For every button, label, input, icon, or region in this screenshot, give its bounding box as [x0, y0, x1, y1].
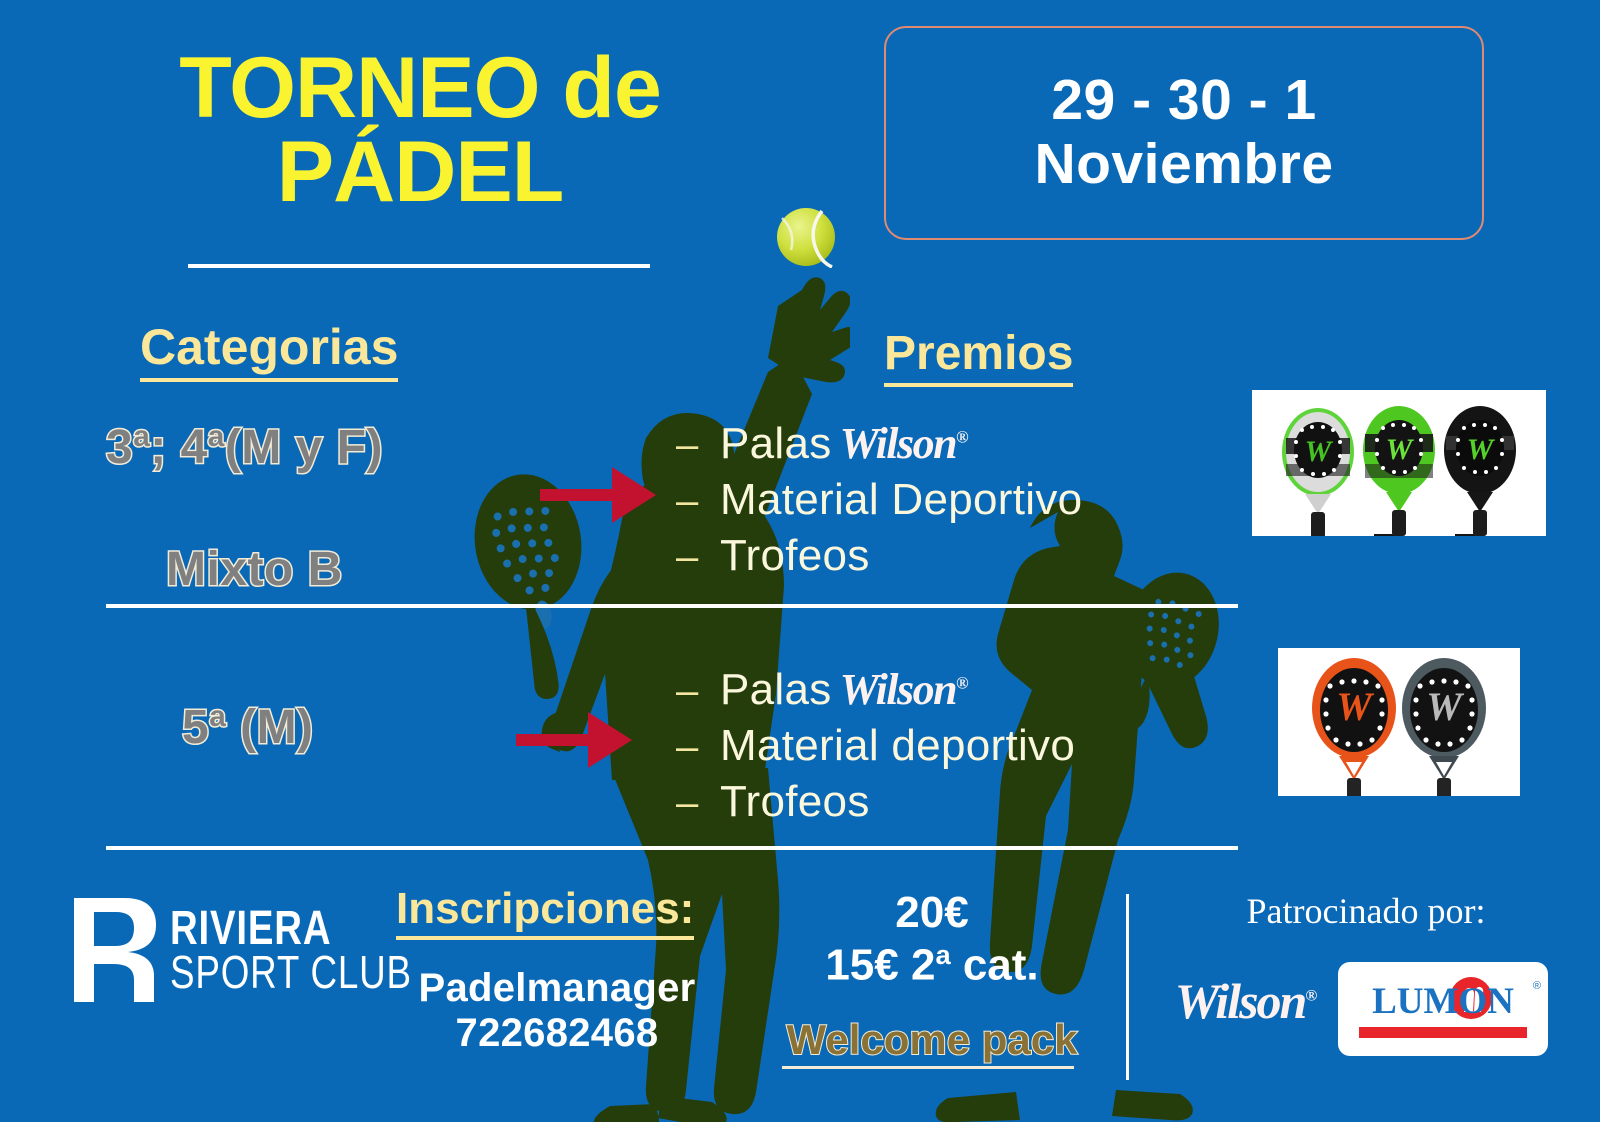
bullet-dash: –: [676, 725, 720, 770]
footer-vertical-divider: [1126, 894, 1129, 1080]
prize-item: – Trofeos: [676, 777, 1075, 827]
category-item-5a: 5a (M): [182, 700, 314, 755]
prizes-list-group-1: – Palas Wilson® – Material Deportivo – T…: [676, 418, 1082, 587]
bullet-dash: –: [676, 535, 720, 580]
bullet-dash: –: [676, 479, 720, 524]
racket-photo-bottom: W W: [1278, 648, 1520, 796]
riviera-r-mark-icon: [72, 898, 156, 1002]
registration-phone[interactable]: 722682468: [412, 1011, 702, 1056]
title-line-2: PÁDEL: [110, 130, 730, 214]
prize-text: Material deportivo: [720, 721, 1075, 771]
prize-item: – Trofeos: [676, 531, 1082, 581]
club-name-line-1: RIVIERA: [170, 906, 412, 951]
section-divider-1: [106, 604, 1238, 608]
sponsor-label: Patrocinado por:: [1196, 890, 1536, 932]
prize-text: Trofeos: [720, 777, 870, 827]
category-item-3a-4a: 3a; 4a(M y F): [106, 420, 383, 475]
sponsor-lumon-logo: LUMON ®: [1338, 962, 1548, 1056]
bullet-dash: –: [676, 781, 720, 826]
price-block: 20€ 15€ 2a cat.: [772, 888, 1092, 991]
event-date-days: 29 - 30 - 1: [1034, 69, 1333, 133]
registration-app-name: Padelmanager: [412, 966, 702, 1011]
prize-text: Palas: [720, 419, 832, 469]
tennis-ball-icon: [775, 206, 837, 268]
wilson-wordmark: Wilson®: [832, 664, 968, 715]
welcome-pack-underline: [782, 1066, 1074, 1069]
event-date-box: 29 - 30 - 1 Noviembre: [884, 26, 1484, 240]
prize-item: – Material Deportivo: [676, 475, 1082, 525]
price-second-category: 15€ 2a cat.: [772, 939, 1092, 991]
sponsor-wilson-logo: Wilson®: [1160, 972, 1330, 1030]
svg-text:W: W: [1426, 684, 1464, 729]
svg-text:W: W: [1336, 684, 1374, 729]
price-full: 20€: [772, 888, 1092, 939]
prize-text: Material Deportivo: [720, 475, 1082, 525]
lumon-wordmark: LUMON: [1354, 980, 1532, 1023]
prize-item: – Palas Wilson®: [676, 664, 1075, 715]
page-title: TORNEO de PÁDEL: [110, 46, 730, 215]
prizes-heading: Premios: [884, 326, 1073, 387]
poster-canvas: TORNEO de PÁDEL 29 - 30 - 1 Noviembre Ca…: [0, 0, 1600, 1122]
registration-contact: Padelmanager 722682468: [412, 966, 702, 1056]
categories-heading: Categorias: [140, 318, 398, 382]
arrow-right-top-icon: [540, 455, 660, 535]
bullet-dash: –: [676, 669, 720, 714]
arrow-right-bottom-icon: [516, 700, 636, 780]
registration-heading: Inscripciones:: [396, 884, 694, 940]
event-date-text: 29 - 30 - 1 Noviembre: [1034, 69, 1333, 197]
title-divider: [188, 264, 650, 268]
welcome-pack-label: Welcome pack: [772, 1016, 1092, 1064]
svg-text:W: W: [1467, 433, 1496, 466]
prize-text: Trofeos: [720, 531, 870, 581]
prize-item: – Material deportivo: [676, 721, 1075, 771]
racket-photo-top: W W: [1252, 390, 1546, 536]
title-line-1: TORNEO de: [110, 46, 730, 130]
event-date-month: Noviembre: [1034, 133, 1333, 197]
prize-item: – Palas Wilson®: [676, 418, 1082, 469]
section-divider-2: [106, 846, 1238, 850]
lumon-underline-bar: [1359, 1027, 1527, 1038]
category-item-mixto-b: Mixto B: [166, 542, 343, 597]
svg-text:W: W: [1386, 433, 1415, 466]
svg-text:W: W: [1305, 435, 1334, 468]
lumon-registered-mark: ®: [1533, 980, 1541, 992]
prizes-list-group-2: – Palas Wilson® – Material deportivo – T…: [676, 664, 1075, 833]
club-name-line-2: SPORT CLUB: [170, 951, 412, 994]
bullet-dash: –: [676, 423, 720, 468]
prize-text: Palas: [720, 665, 832, 715]
wilson-wordmark: Wilson®: [832, 418, 968, 469]
